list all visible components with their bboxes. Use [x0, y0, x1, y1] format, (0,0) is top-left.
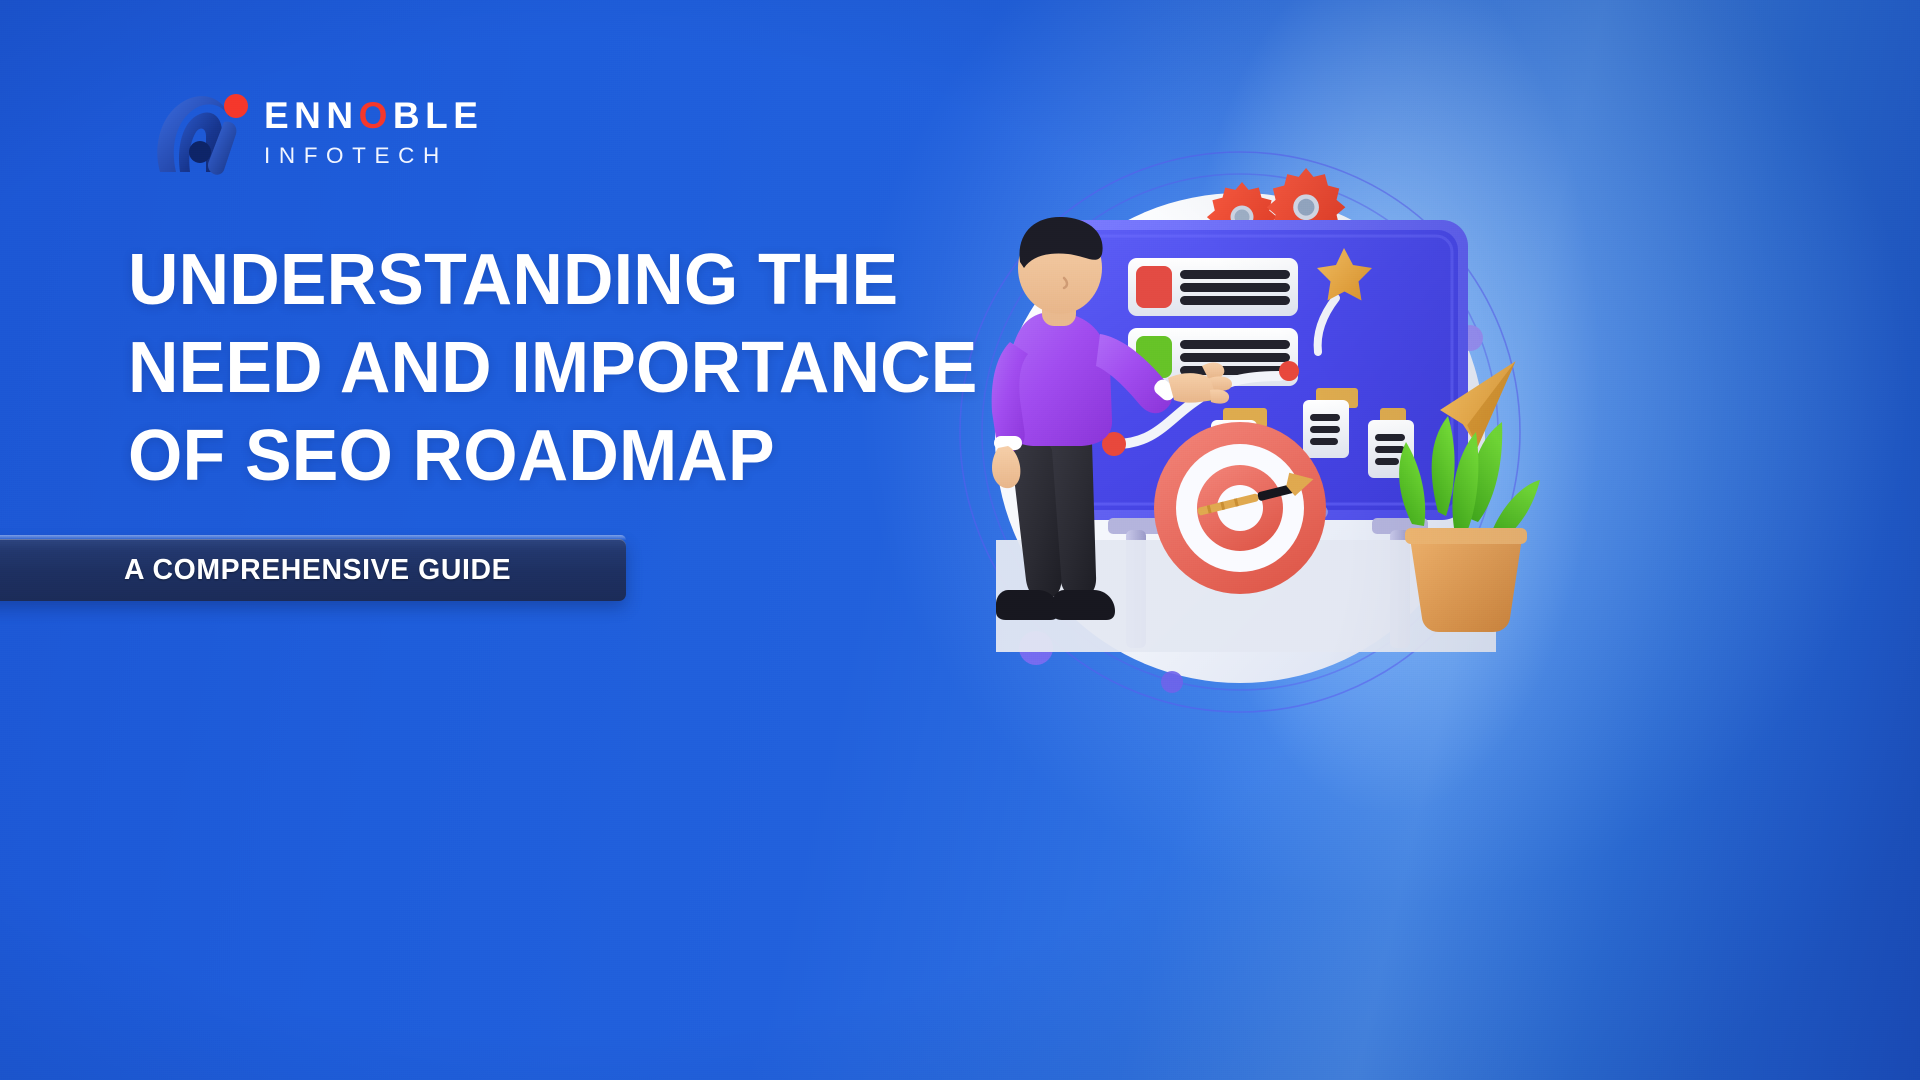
ai-monogram-icon: [150, 84, 250, 176]
hero-banner: ENNOBLE INFOTECH UNDERSTANDING THE NEED …: [0, 0, 1920, 1080]
seo-roadmap-illustration: [940, 120, 1540, 740]
title-line-2: NEED AND IMPORTANCE: [128, 324, 962, 412]
curve-node-red: [1279, 361, 1299, 381]
title-line-3: OF SEO ROADMAP: [128, 412, 962, 500]
shoe-icon: [1052, 590, 1115, 620]
brand-wordmark: ENNOBLE INFOTECH: [264, 93, 483, 168]
brand-name-post: BLE: [393, 97, 484, 134]
logo-red-dot-icon: [224, 94, 248, 118]
shoe-icon: [996, 590, 1059, 620]
title-line-1: UNDERSTANDING THE: [128, 236, 962, 324]
checklist-card-red: [1128, 258, 1298, 316]
subtitle-ribbon: A COMPREHENSIVE GUIDE: [0, 539, 626, 601]
subtitle-label: A COMPREHENSIVE GUIDE: [124, 554, 511, 587]
floating-dot-purple: [1161, 671, 1183, 693]
brand-name-pre: ENN: [264, 97, 359, 134]
brand-name: ENNOBLE: [264, 97, 483, 134]
brand-logo[interactable]: ENNOBLE INFOTECH: [150, 84, 483, 176]
brand-name-highlight: O: [359, 97, 393, 134]
brand-tagline: INFOTECH: [264, 145, 483, 168]
page-title: UNDERSTANDING THE NEED AND IMPORTANCE OF…: [128, 236, 962, 500]
